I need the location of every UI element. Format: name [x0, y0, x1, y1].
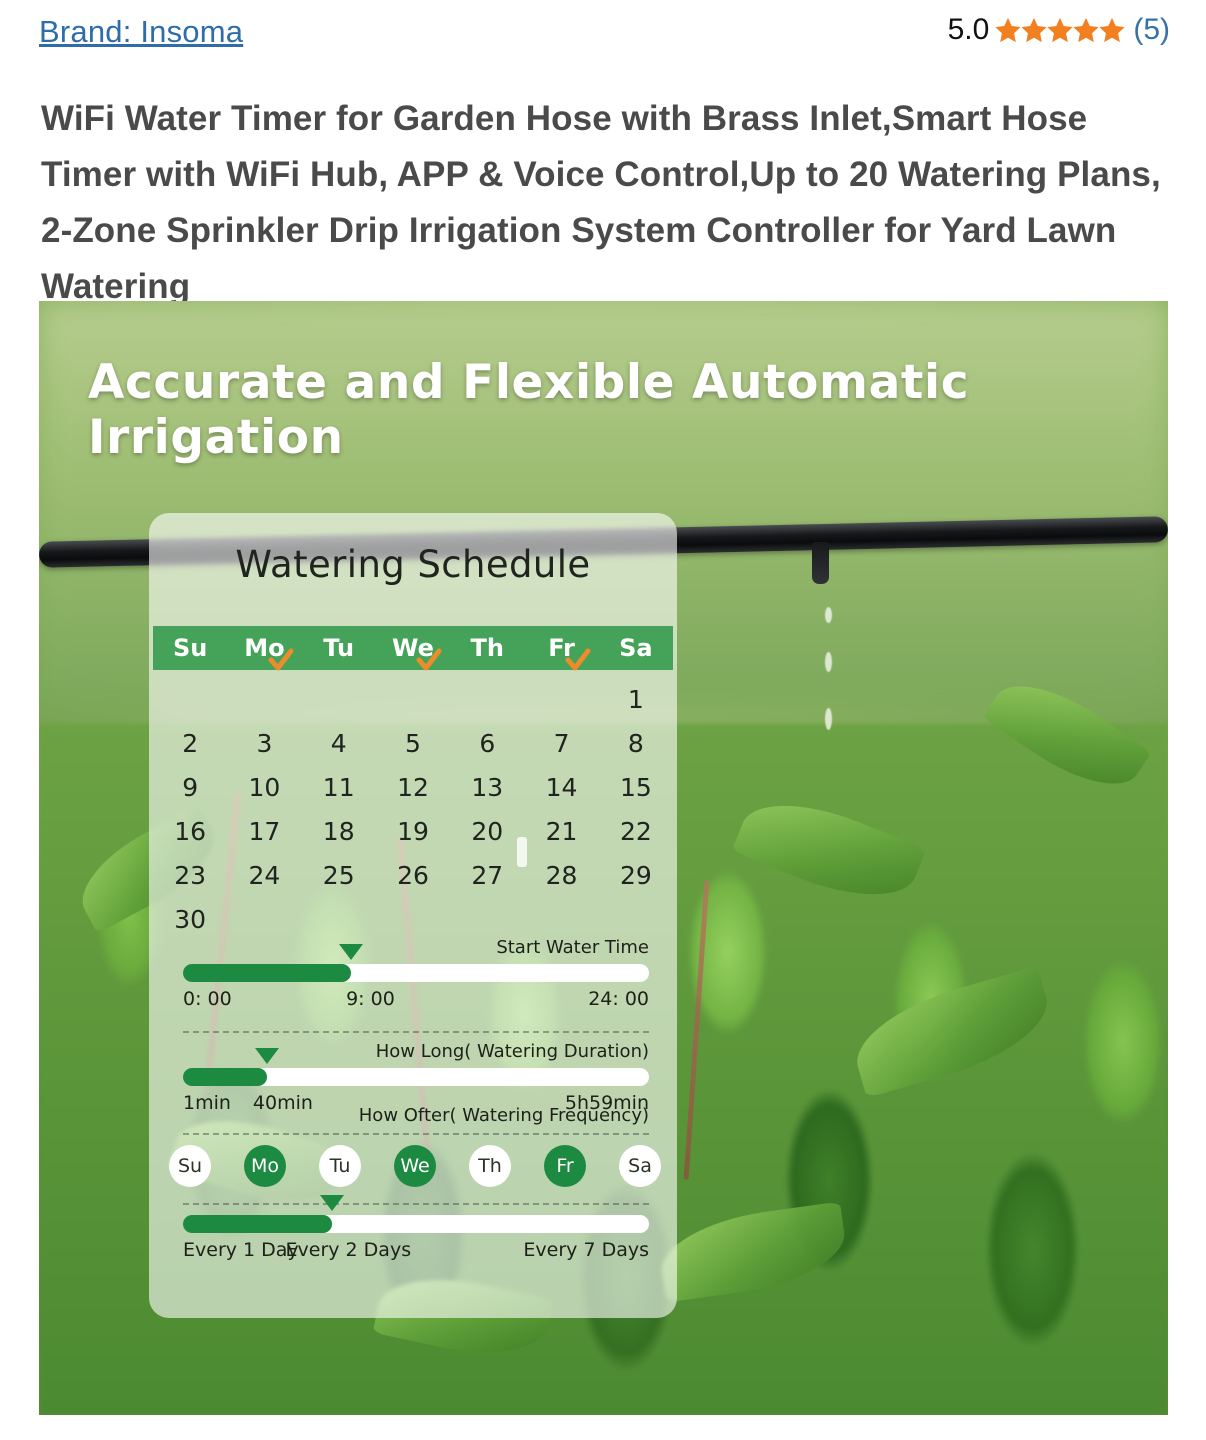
slider-max-label: 24: 00: [588, 988, 649, 1010]
check-icon: [416, 648, 442, 674]
product-title: WiFi Water Timer for Garden Hose with Br…: [41, 91, 1161, 315]
calendar-day[interactable]: 7: [524, 722, 598, 766]
section-divider: [183, 1133, 649, 1135]
slider-fill: [183, 1068, 267, 1086]
slider-watering-frequency[interactable]: Every 1 Day Every 2 Days Every 7 Days: [183, 1215, 649, 1265]
weekday-header-we[interactable]: We: [376, 634, 450, 662]
slider-min-label: Every 1 Day: [183, 1239, 299, 1261]
weekday-header-label: Su: [173, 634, 207, 662]
slider-fill: [183, 964, 351, 982]
slider-start-water-time[interactable]: Start Water Time 0: 00 9: 00 24: 00: [183, 937, 649, 1014]
calendar-day[interactable]: 1: [599, 678, 673, 722]
calendar-day[interactable]: 5: [376, 722, 450, 766]
drip-emitter: [812, 542, 829, 584]
weekday-toggle-label: Su: [178, 1155, 202, 1177]
slider-thumb[interactable]: [255, 1048, 279, 1064]
schedule-card-title: Watering Schedule: [149, 543, 677, 586]
slider-rail[interactable]: [183, 964, 649, 982]
slider-rail[interactable]: [183, 1068, 649, 1086]
calendar-day[interactable]: 14: [524, 766, 598, 810]
slider-thumb[interactable]: [320, 1195, 344, 1211]
weekday-header-label: Tu: [323, 634, 354, 662]
calendar-cell-empty: [524, 678, 598, 722]
calendar-day[interactable]: 19: [376, 810, 450, 854]
watering-schedule-card: Watering Schedule SuMoTuWeThFrSa 1234567…: [149, 513, 677, 1318]
weekday-toggle-mo[interactable]: Mo: [244, 1145, 286, 1187]
calendar-day[interactable]: 15: [599, 766, 673, 810]
water-drop: [825, 607, 832, 623]
weekday-selector[interactable]: SuMoTuWeThFrSa: [169, 1145, 661, 1187]
calendar-cell-empty: [450, 678, 524, 722]
calendar-day[interactable]: 23: [153, 854, 227, 898]
weekday-header-fr[interactable]: Fr: [524, 634, 598, 662]
weekday-header-mo[interactable]: Mo: [227, 634, 301, 662]
calendar-day-marker: [517, 837, 527, 867]
calendar-cell-empty: [153, 678, 227, 722]
weekday-header-label: Th: [471, 634, 504, 662]
calendar-day[interactable]: 18: [302, 810, 376, 854]
weekday-toggle-fr[interactable]: Fr: [544, 1145, 586, 1187]
calendar-cell-empty: [302, 678, 376, 722]
check-icon: [268, 648, 294, 674]
slider-rail[interactable]: [183, 1215, 649, 1233]
calendar-day[interactable]: 4: [302, 722, 376, 766]
calendar-day[interactable]: 24: [227, 854, 301, 898]
water-drop: [825, 652, 832, 672]
water-drop: [825, 708, 832, 730]
calendar-day[interactable]: 6: [450, 722, 524, 766]
slider-caption: How Ofter( Watering Frequency): [183, 1105, 649, 1126]
calendar-cell-empty: [376, 678, 450, 722]
slider-labels: Every 1 Day Every 2 Days Every 7 Days: [183, 1239, 649, 1265]
rating-block[interactable]: 5.0 (5): [948, 15, 1170, 45]
slider-thumb[interactable]: [339, 944, 363, 960]
slider-labels: 0: 00 9: 00 24: 00: [183, 988, 649, 1014]
weekday-toggle-tu[interactable]: Tu: [319, 1145, 361, 1187]
slider-caption: Start Water Time: [183, 937, 649, 958]
calendar-day[interactable]: 10: [227, 766, 301, 810]
calendar-day[interactable]: 9: [153, 766, 227, 810]
calendar-day[interactable]: 8: [599, 722, 673, 766]
calendar-day[interactable]: 17: [227, 810, 301, 854]
check-icon: [565, 648, 591, 674]
section-divider: [183, 1203, 649, 1205]
banner-headline: Accurate and Flexible Automatic Irrigati…: [88, 355, 1128, 465]
weekday-toggle-label: Tu: [330, 1155, 351, 1177]
calendar-day[interactable]: 22: [599, 810, 673, 854]
weekday-toggle-label: We: [400, 1155, 429, 1177]
weekday-toggle-label: Fr: [556, 1155, 573, 1177]
calendar-grid[interactable]: 1234567891011121314151617181920212223242…: [153, 678, 673, 942]
calendar-day[interactable]: 27: [450, 854, 524, 898]
calendar-day[interactable]: 13: [450, 766, 524, 810]
section-divider: [183, 1031, 649, 1033]
calendar-day[interactable]: 16: [153, 810, 227, 854]
calendar-day[interactable]: 2: [153, 722, 227, 766]
weekday-toggle-su[interactable]: Su: [169, 1145, 211, 1187]
product-listing-page: Brand: Insoma 5.0 (5) WiFi Water Timer f…: [0, 0, 1206, 1440]
weekday-toggle-we[interactable]: We: [394, 1145, 436, 1187]
weekday-header-bar: SuMoTuWeThFrSa: [153, 626, 673, 670]
star-icon: [1020, 16, 1048, 44]
slider-fill: [183, 1215, 332, 1233]
calendar-day[interactable]: 12: [376, 766, 450, 810]
slider-max-label: Every 7 Days: [523, 1239, 649, 1261]
calendar-day[interactable]: 21: [524, 810, 598, 854]
header-row: Brand: Insoma 5.0 (5): [0, 0, 1206, 62]
weekday-header-sa[interactable]: Sa: [599, 634, 673, 662]
calendar-day[interactable]: 26: [376, 854, 450, 898]
calendar-day[interactable]: 29: [599, 854, 673, 898]
brand-link[interactable]: Brand: Insoma: [39, 14, 243, 50]
weekday-toggle-sa[interactable]: Sa: [619, 1145, 661, 1187]
weekday-toggle-label: Mo: [251, 1155, 279, 1177]
weekday-header-su[interactable]: Su: [153, 634, 227, 662]
star-icon: [1072, 16, 1100, 44]
slider-caption: How Long( Watering Duration): [183, 1041, 649, 1062]
calendar-day[interactable]: 30: [153, 898, 227, 942]
calendar-day[interactable]: 3: [227, 722, 301, 766]
star-icon: [1098, 16, 1126, 44]
weekday-toggle-label: Th: [478, 1155, 502, 1177]
weekday-header-tu[interactable]: Tu: [302, 634, 376, 662]
product-image[interactable]: Accurate and Flexible Automatic Irrigati…: [39, 301, 1168, 1415]
rating-stars[interactable]: [994, 16, 1124, 44]
weekday-header-label: Sa: [619, 634, 652, 662]
weekday-toggle-th[interactable]: Th: [469, 1145, 511, 1187]
calendar-cell-empty: [227, 678, 301, 722]
star-icon: [1046, 16, 1074, 44]
calendar-day[interactable]: 20: [450, 810, 524, 854]
rating-count-link[interactable]: (5): [1133, 15, 1170, 45]
rating-score: 5.0: [948, 15, 990, 45]
slider-value-label: 9: 00: [346, 988, 395, 1010]
slider-min-label: 0: 00: [183, 988, 232, 1010]
weekday-header-th[interactable]: Th: [450, 634, 524, 662]
star-icon: [994, 16, 1022, 44]
slider-value-label: Every 2 Days: [286, 1239, 412, 1261]
weekday-toggle-label: Sa: [628, 1155, 652, 1177]
calendar-day[interactable]: 25: [302, 854, 376, 898]
calendar-day[interactable]: 11: [302, 766, 376, 810]
watering-frequency-caption-block: How Ofter( Watering Frequency): [183, 1105, 649, 1132]
calendar-day[interactable]: 28: [524, 854, 598, 898]
